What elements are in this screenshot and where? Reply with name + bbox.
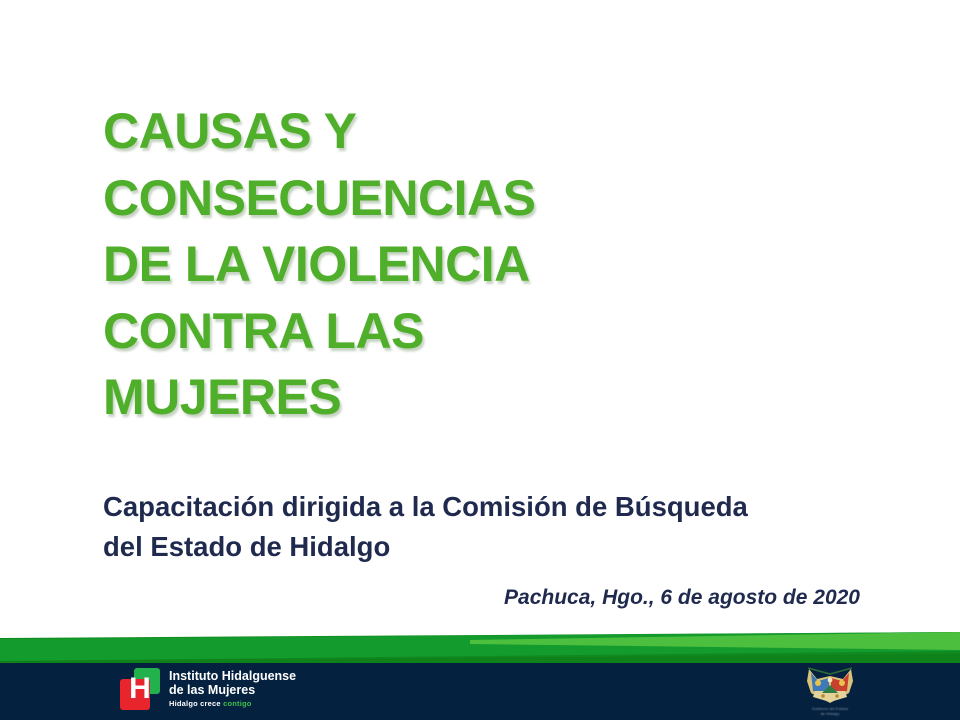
presentation-slide: CAUSAS Y CONSECUENCIAS DE LA VIOLENCIA C… bbox=[0, 0, 960, 720]
subtitle-line-2: del Estado de Hidalgo bbox=[103, 527, 893, 567]
subtitle-line-1: Capacitación dirigida a la Comisión de B… bbox=[103, 487, 893, 527]
ihm-logo-text: Instituto Hidalguense de las Mujeres Hid… bbox=[169, 669, 296, 708]
title-line-2: CONSECUENCIAS bbox=[103, 165, 723, 232]
logo-letter-h: H bbox=[118, 670, 162, 708]
ihm-name-line-1: Instituto Hidalguense bbox=[169, 669, 296, 683]
title-line-5: MUJERES bbox=[103, 364, 723, 431]
slide-subtitle: Capacitación dirigida a la Comisión de B… bbox=[103, 487, 893, 567]
title-line-3: DE LA VIOLENCIA bbox=[103, 231, 723, 298]
green-swoosh-graphic bbox=[0, 628, 960, 668]
title-line-4: CONTRA LAS bbox=[103, 298, 723, 365]
tagline-part-white: Hidalgo crece bbox=[169, 699, 221, 708]
ihm-name-line-2: de las Mujeres bbox=[169, 683, 296, 697]
slide-date-location: Pachuca, Hgo., 6 de agosto de 2020 bbox=[0, 586, 860, 610]
ihm-h-mark-icon: H bbox=[118, 666, 162, 712]
ihm-logo: H Instituto Hidalguense de las Mujeres H… bbox=[118, 666, 296, 712]
slide-title: CAUSAS Y CONSECUENCIAS DE LA VIOLENCIA C… bbox=[103, 98, 723, 431]
hidalgo-crest-logo: Gobierno del Estado de Hidalgo bbox=[790, 663, 870, 718]
crest-caption: Gobierno del Estado de Hidalgo bbox=[790, 706, 870, 716]
tagline-part-green: contigo bbox=[223, 699, 251, 708]
ihm-tagline: Hidalgo crece contigo bbox=[169, 700, 296, 708]
crest-caption-line-2: de Hidalgo bbox=[790, 711, 870, 716]
title-line-1: CAUSAS Y bbox=[103, 98, 723, 165]
coat-of-arms-icon bbox=[803, 663, 857, 705]
